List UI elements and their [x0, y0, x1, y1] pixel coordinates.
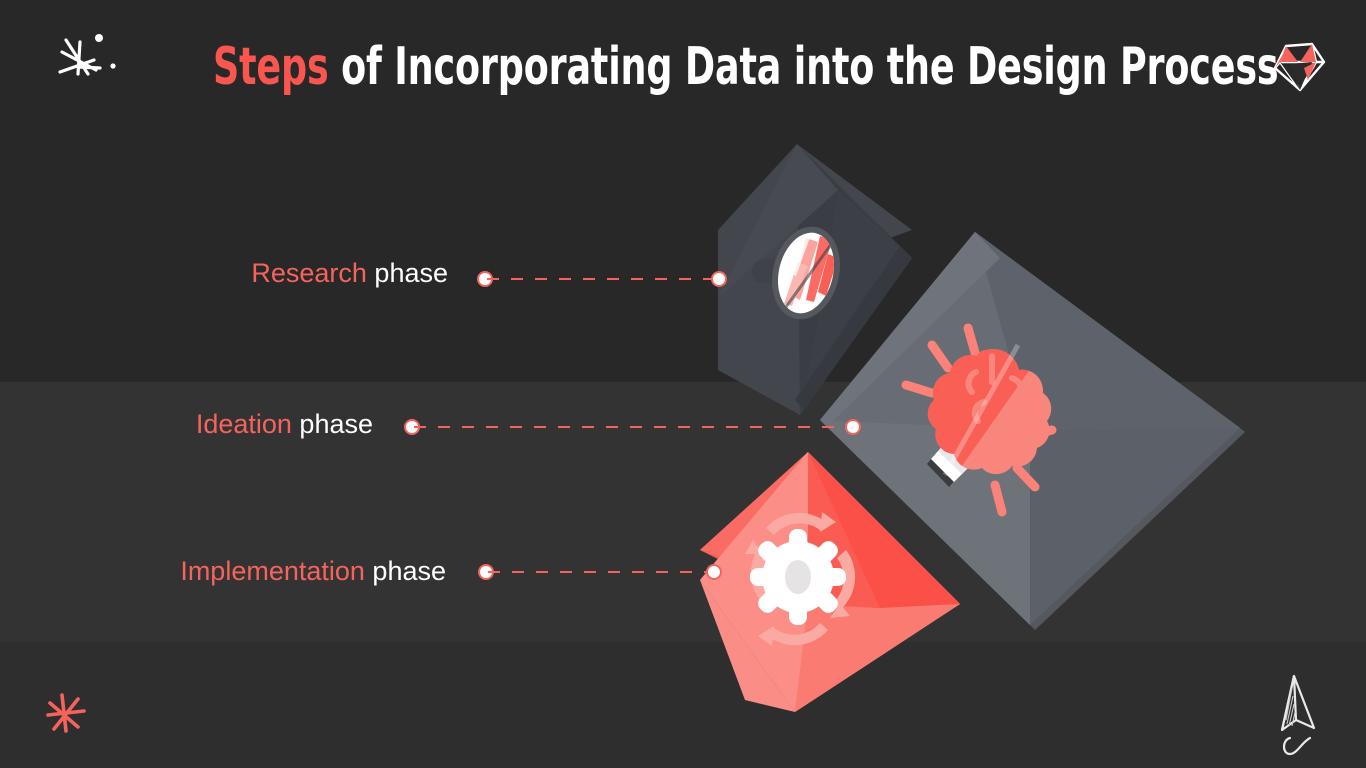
asterisk-doodle-icon — [40, 685, 92, 741]
phase-keyword-implementation: Implementation — [180, 556, 365, 586]
paper-plane-doodle-icon — [1268, 668, 1330, 764]
sparkle-doodle-icon — [48, 22, 128, 92]
connector-dot-end — [708, 566, 720, 578]
phase-keyword-ideation: Ideation — [196, 409, 292, 439]
connector-dashes — [414, 426, 851, 428]
connector-dot-end — [713, 273, 725, 285]
connector-research — [479, 272, 725, 286]
connector-implementation — [480, 565, 720, 579]
phase-keyword-research: Research — [251, 258, 367, 288]
background-band-bottom — [0, 642, 1366, 768]
slide-canvas: Steps of Incorporating Data into the Des… — [0, 0, 1366, 768]
title-rest: of Incorporating Data into the Design Pr… — [329, 37, 1279, 97]
phase-label-research[interactable]: Research phase — [0, 256, 448, 290]
title-accent-word: Steps — [213, 37, 329, 97]
diamond-logo-icon — [1268, 38, 1330, 96]
page-title: Steps of Incorporating Data into the Des… — [213, 36, 977, 98]
phase-suffix-research: phase — [367, 258, 448, 288]
phase-suffix-implementation: phase — [365, 556, 446, 586]
phase-suffix-ideation: phase — [292, 409, 373, 439]
connector-ideation — [406, 420, 859, 434]
phase-label-implementation[interactable]: Implementation phase — [0, 554, 446, 588]
connector-dashes — [488, 571, 712, 573]
connector-dashes — [487, 278, 717, 280]
connector-dot-end — [847, 421, 859, 433]
phase-label-ideation[interactable]: Ideation phase — [0, 407, 373, 441]
